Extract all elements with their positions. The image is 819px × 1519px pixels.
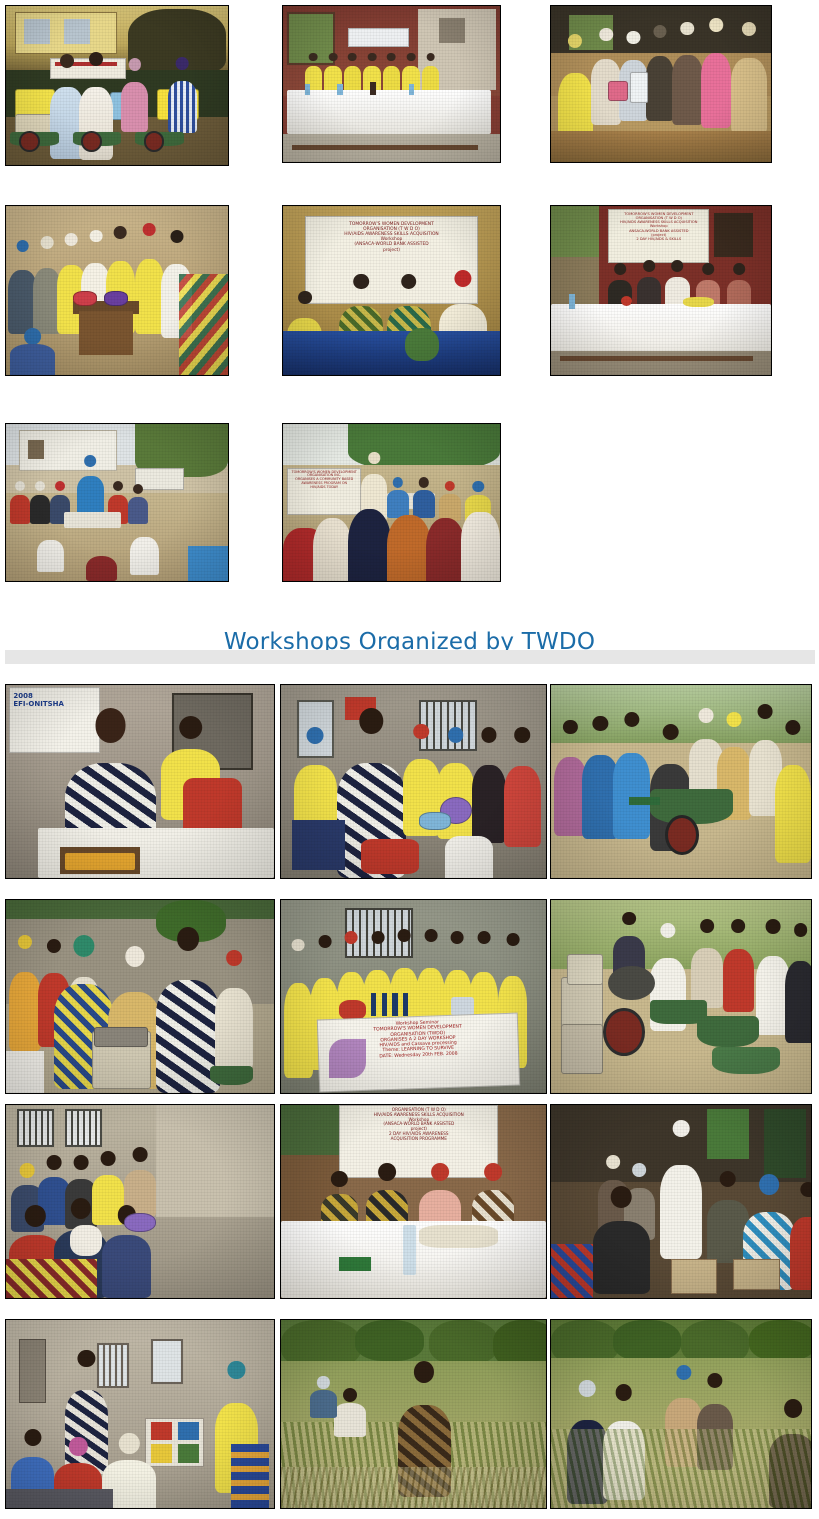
gallery-photo-9[interactable]: 2008 EFI-ONITSHA [5, 684, 275, 879]
gallery-photo-4[interactable] [5, 205, 229, 376]
gallery-photo-1[interactable] [5, 5, 229, 166]
gallery-photo-3[interactable] [550, 5, 772, 163]
gallery-photo-14[interactable] [550, 899, 812, 1094]
gallery-photo-11[interactable] [550, 684, 812, 879]
gallery-photo-15[interactable] [5, 1104, 275, 1299]
gallery-photo-18[interactable] [5, 1319, 275, 1509]
gallery-photo-17[interactable] [550, 1104, 812, 1299]
gallery-photo-6[interactable]: TOMORROW'S WOMEN DEVELOPMENT ORGANISATIO… [550, 205, 772, 376]
gallery-photo-8[interactable]: TOMORROW'S WOMEN DEVELOPMENT ORGANISATIO… [282, 423, 501, 582]
photo-8-banner-text: TOMORROW'S WOMEN DEVELOPMENT ORGANISATIO… [290, 470, 359, 514]
photo-6-banner-text: TOMORROW'S WOMEN DEVELOPMENT ORGANISATIO… [610, 211, 707, 262]
gallery-photo-12[interactable] [5, 899, 275, 1094]
gallery-photo-5[interactable]: TOMORROW'S WOMEN DEVELOPMENT ORGANISATIO… [282, 205, 501, 376]
gallery-photo-13[interactable]: Workshop Seminar TOMORROW'S WOMEN DEVELO… [280, 899, 547, 1094]
gallery-photo-16[interactable]: ORGANISATION (T W D O) HIV/AIDS AWARENES… [280, 1104, 547, 1299]
gallery-photo-10[interactable] [280, 684, 547, 879]
gallery-photo-19[interactable] [280, 1319, 547, 1509]
section-divider [5, 650, 815, 664]
page-root: TOMORROW'S WOMEN DEVELOPMENT ORGANISATIO… [0, 0, 819, 1519]
gallery-photo-20[interactable] [550, 1319, 812, 1509]
gallery-photo-7[interactable] [5, 423, 229, 582]
gallery-photo-2[interactable] [282, 5, 501, 163]
